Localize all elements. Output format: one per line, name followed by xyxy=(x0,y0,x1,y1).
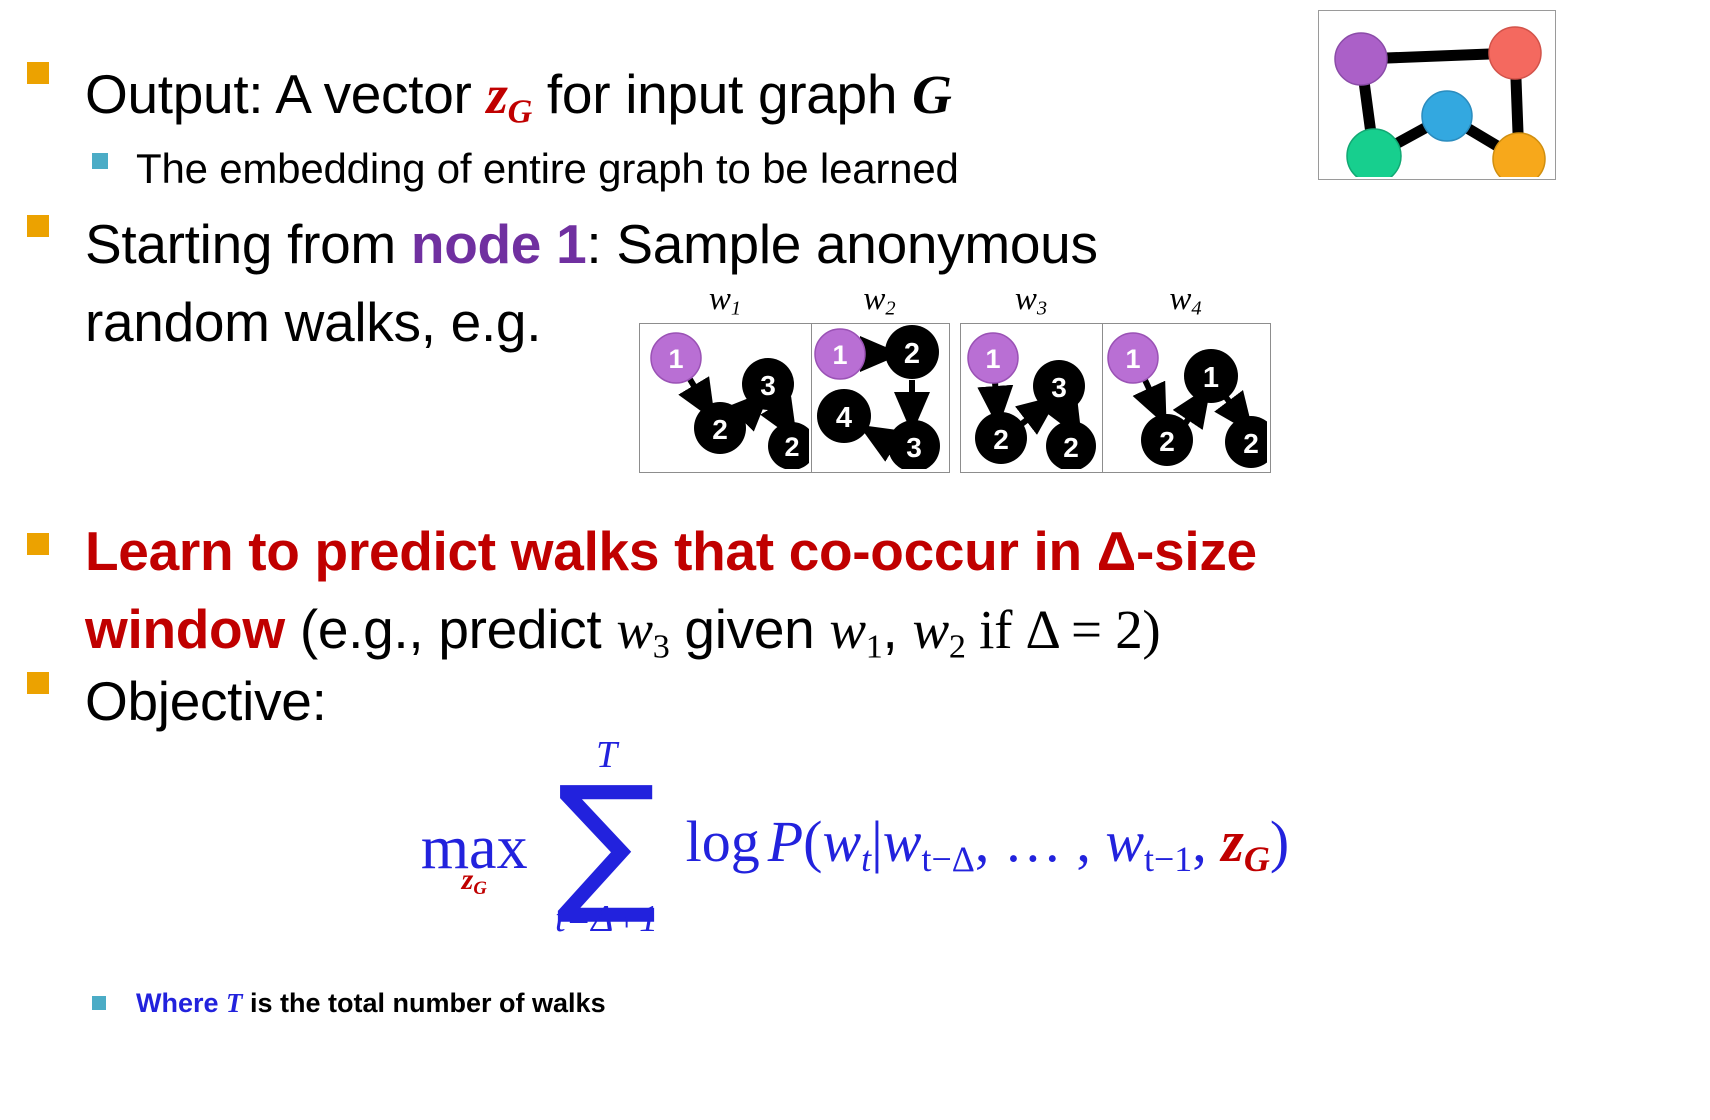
svg-text:1: 1 xyxy=(1203,362,1219,394)
symbol-w3: w3 xyxy=(616,599,669,660)
walk-label-w4: w4 xyxy=(1102,281,1269,321)
starting-post: : Sample anonymous xyxy=(586,213,1097,275)
walk-label-w2: w2 xyxy=(811,281,948,321)
formula-summation-sign: ∑ xyxy=(556,767,657,917)
walk-nodes-w4: 1 2 1 2 xyxy=(1108,333,1267,468)
formula-z-G: zG xyxy=(1221,809,1270,874)
bullet-output: Output: A vector zG for input graph G xyxy=(85,55,952,152)
learn-comma: , xyxy=(883,598,913,660)
svg-text:2: 2 xyxy=(784,432,799,462)
formula-wt: wt xyxy=(822,809,871,874)
learn-black-b: given xyxy=(669,598,829,660)
symbol-w2: w2 xyxy=(913,599,966,660)
bullet-starting-line2: random walks, e.g. xyxy=(85,283,541,361)
bullet-output-mid: for input graph xyxy=(532,63,912,125)
walk-graph-w3: 1 2 3 2 xyxy=(961,324,1100,469)
walk-graph-w2: 1 2 3 4 xyxy=(812,324,946,469)
where-post: is the total number of walks xyxy=(243,988,606,1018)
svg-text:2: 2 xyxy=(1063,432,1079,463)
symbol-z-G: zG xyxy=(487,64,532,125)
svg-text:1: 1 xyxy=(1125,344,1140,374)
bullet-embedding: The embedding of entire graph to be lear… xyxy=(136,140,959,198)
starting-pre: Starting from xyxy=(85,213,411,275)
symbol-w1: w1 xyxy=(829,599,882,660)
walk-nodes-w3: 1 2 3 2 xyxy=(968,333,1096,469)
learn-black-a: (e.g., predict xyxy=(285,598,616,660)
svg-text:1: 1 xyxy=(668,344,683,374)
bullet-learn-line1: Learn to predict walks that co-occur in … xyxy=(85,512,1257,590)
bullet-marker-objective xyxy=(27,672,49,694)
symbol-T: T xyxy=(226,988,243,1018)
svg-text:4: 4 xyxy=(836,402,852,434)
formula-P: P xyxy=(768,809,803,874)
starting-node-1: node 1 xyxy=(411,213,586,275)
symbol-z-G-subscript: G xyxy=(508,94,532,131)
svg-text:3: 3 xyxy=(906,432,922,463)
svg-text:2: 2 xyxy=(904,338,920,370)
formula-summation-lower: t=Δ+1 xyxy=(555,897,658,941)
graph-node-green xyxy=(1347,129,1401,177)
learn-black-c: if Δ = 2) xyxy=(966,599,1161,660)
bullet-marker-learn xyxy=(27,533,49,555)
walk-graph-w4: 1 2 1 2 xyxy=(1103,324,1267,469)
formula-wt-delta: wt−Δ xyxy=(883,809,975,874)
svg-text:3: 3 xyxy=(1051,372,1067,403)
formula-max: max zG xyxy=(421,795,528,866)
walk-graph-w1: 1 2 3 2 xyxy=(640,324,809,469)
bullet-where-t: Where T is the total number of walks xyxy=(136,985,606,1021)
bullet-output-pre: Output: A vector xyxy=(85,63,487,125)
objective-formula: max zG T ∑ t=Δ+1 logP(wt|wt−Δ, … , wt−1,… xyxy=(0,735,1710,925)
bullet-objective: Objective: xyxy=(85,662,327,740)
graph-node-orange xyxy=(1493,133,1545,177)
walk-nodes-w2: 1 2 3 4 xyxy=(815,325,940,469)
svg-text:2: 2 xyxy=(1159,426,1175,457)
svg-text:2: 2 xyxy=(993,424,1009,455)
learn-red-text-2: window xyxy=(85,598,285,660)
formula-summation: T ∑ t=Δ+1 xyxy=(532,735,682,925)
bullet-marker-embedding xyxy=(92,153,108,169)
formula-body: logP(wt|wt−Δ, … , wt−1, zG) xyxy=(686,808,1290,880)
bullet-marker-where-t xyxy=(92,996,106,1010)
svg-text:3: 3 xyxy=(760,370,776,401)
bullet-marker-output xyxy=(27,62,49,84)
walk-nodes-w1: 1 2 3 2 xyxy=(651,333,809,469)
input-graph-svg xyxy=(1319,11,1553,177)
svg-text:1: 1 xyxy=(832,340,847,370)
where-pre: Where xyxy=(136,988,226,1018)
symbol-G: G xyxy=(912,64,951,125)
svg-text:2: 2 xyxy=(712,414,728,445)
input-graph-thumbnail xyxy=(1318,10,1556,180)
graph-node-purple xyxy=(1335,33,1387,85)
walk-label-w3: w3 xyxy=(960,281,1102,321)
svg-text:2: 2 xyxy=(1243,428,1259,459)
formula-wt-1: wt−1 xyxy=(1105,809,1192,874)
walk-label-w1: w1 xyxy=(639,281,811,321)
svg-text:1: 1 xyxy=(985,344,1000,374)
bullet-starting-line1: Starting from node 1: Sample anonymous xyxy=(85,205,1098,283)
graph-node-blue xyxy=(1422,91,1472,141)
learn-red-text-1: Learn to predict walks that co-occur in … xyxy=(85,520,1257,582)
slide-canvas: Output: A vector zG for input graph G Th… xyxy=(0,0,1710,1120)
graph-node-red xyxy=(1489,27,1541,79)
bullet-marker-starting xyxy=(27,215,49,237)
formula-max-subscript: zG xyxy=(462,863,487,900)
